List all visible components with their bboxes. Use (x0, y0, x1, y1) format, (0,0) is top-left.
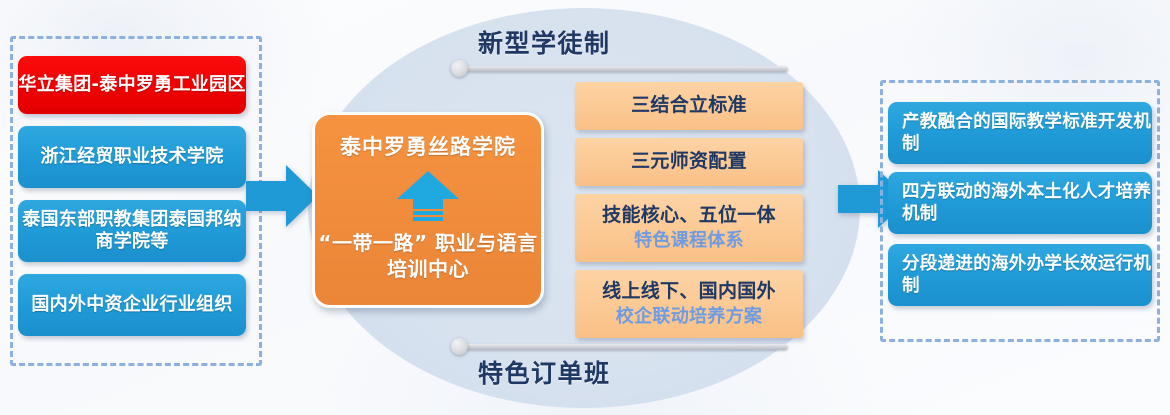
middle-card-2-sub: 特色课程体系 (634, 230, 744, 252)
left-card-thailand-group[interactable]: 泰国东部职教集团泰国邦纳商学院等 (18, 200, 246, 262)
center-hub-card[interactable]: 泰中罗勇丝路学院 “一带一路” 职业与语言培训中心 (312, 112, 544, 308)
banner-label-bottom: 特色订单班 (478, 354, 611, 390)
connector-line-top (458, 66, 788, 72)
right-card-0-label: 产教融合的国际教学标准开发机制 (902, 111, 1152, 155)
middle-card-3-main: 线上线下、国内国外 (602, 280, 776, 303)
right-card-2-label: 分段递进的海外办学长效运行机制 (902, 253, 1152, 297)
left-card-zhejiang-college[interactable]: 浙江经贸职业技术学院 (18, 126, 246, 188)
right-card-operation-mechanism[interactable]: 分段递进的海外办学长效运行机制 (888, 244, 1152, 306)
diagram-canvas: 华立集团-泰中罗勇工业园区 浙江经贸职业技术学院 泰国东部职教集团泰国邦纳商学院… (0, 0, 1170, 415)
middle-card-2-main: 技能核心、五位一体 (602, 204, 776, 227)
middle-card-3-sub: 校企联动培养方案 (616, 306, 762, 328)
middle-card-curriculum[interactable]: 技能核心、五位一体 特色课程体系 (575, 194, 803, 262)
right-card-1-label: 四方联动的海外本土化人才培养机制 (902, 181, 1152, 225)
middle-card-1-main: 三元师资配置 (631, 150, 747, 173)
left-card-enterprises[interactable]: 国内外中资企业行业组织 (18, 274, 246, 336)
left-card-2-label: 泰国东部职教集团泰国邦纳商学院等 (18, 209, 246, 253)
connector-line-bottom (458, 344, 788, 350)
left-card-0-label: 华立集团-泰中罗勇工业园区 (18, 74, 245, 96)
connector-knob-top (451, 60, 468, 77)
middle-card-training-plan[interactable]: 线上线下、国内国外 校企联动培养方案 (575, 270, 803, 338)
right-card-talent-mechanism[interactable]: 四方联动的海外本土化人才培养机制 (888, 172, 1152, 234)
middle-card-faculty[interactable]: 三元师资配置 (575, 138, 803, 186)
left-card-3-label: 国内外中资企业行业组织 (31, 294, 232, 316)
left-card-huali-group[interactable]: 华立集团-泰中罗勇工业园区 (18, 56, 246, 114)
hub-title: 泰中罗勇丝路学院 (340, 131, 516, 161)
up-arrow-icon (393, 169, 463, 225)
banner-label-top: 新型学徒制 (478, 24, 611, 60)
middle-card-standard[interactable]: 三结合立标准 (575, 82, 803, 130)
connector-knob-bottom (451, 338, 468, 355)
hub-subtitle: “一带一路” 职业与语言培训中心 (315, 231, 541, 282)
left-card-1-label: 浙江经贸职业技术学院 (41, 146, 224, 168)
right-card-standard-mechanism[interactable]: 产教融合的国际教学标准开发机制 (888, 102, 1152, 164)
right-arrow-icon-left (246, 163, 318, 229)
middle-card-0-main: 三结合立标准 (631, 94, 747, 117)
